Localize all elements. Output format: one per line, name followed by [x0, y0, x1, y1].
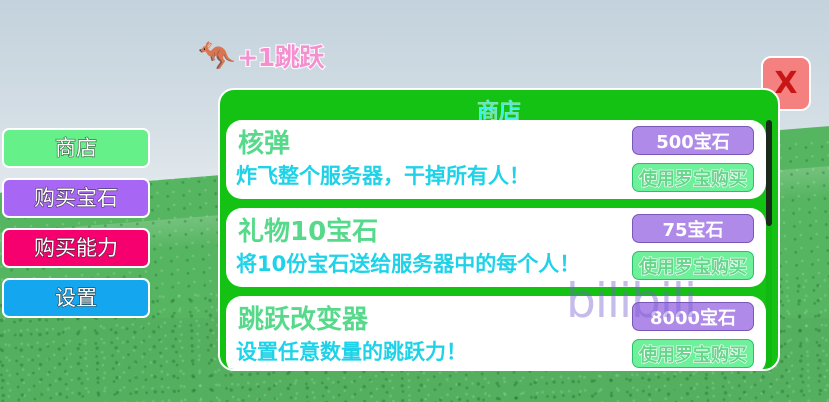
floating-label-jump: 🦘 +1跳跃: [198, 42, 324, 72]
sidebar-item-settings[interactable]: 设置: [2, 278, 150, 318]
shop-item-price-button[interactable]: 75宝石: [632, 214, 754, 243]
floating-label-jump-text: +1跳跃: [237, 45, 323, 70]
shop-item-price-button[interactable]: 8000宝石: [632, 302, 754, 331]
shop-item: 跳跃改变器设置任意数量的跳跃力！8000宝石使用罗宝购买: [226, 296, 766, 370]
shop-item-title: 跳跃改变器: [238, 299, 368, 336]
shop-item-description: 炸飞整个服务器，干掉所有人！: [236, 160, 530, 190]
shop-item-list[interactable]: 核弹炸飞整个服务器，干掉所有人！500宝石使用罗宝购买礼物10宝石将10份宝石送…: [226, 120, 768, 370]
shop-scrollbar-thumb[interactable]: [766, 120, 772, 226]
shop-scrollbar[interactable]: [766, 120, 772, 368]
shop-panel: 商店 核弹炸飞整个服务器，干掉所有人！500宝石使用罗宝购买礼物10宝石将10份…: [218, 88, 780, 371]
shop-item-buy-button[interactable]: 使用罗宝购买: [632, 163, 754, 192]
sidebar-item-buy-gems[interactable]: 购买宝石: [2, 178, 150, 218]
shop-item-buy-button[interactable]: 使用罗宝购买: [632, 339, 754, 368]
sidebar-item-buy-powers[interactable]: 购买能力: [2, 228, 150, 268]
shop-item-description: 设置任意数量的跳跃力！: [236, 336, 467, 366]
shop-item-title: 礼物10宝石: [238, 211, 378, 248]
sidebar-menu: 商店购买宝石购买能力设置: [2, 128, 152, 328]
sidebar-item-shop[interactable]: 商店: [2, 128, 150, 168]
shop-item: 礼物10宝石将10份宝石送给服务器中的每个人！75宝石使用罗宝购买: [226, 208, 766, 287]
shop-item-description: 将10份宝石送给服务器中的每个人！: [236, 248, 580, 278]
shop-item-buy-button[interactable]: 使用罗宝购买: [632, 251, 754, 280]
shop-item: 核弹炸飞整个服务器，干掉所有人！500宝石使用罗宝购买: [226, 120, 766, 199]
kangaroo-icon: 🦘: [198, 42, 235, 72]
shop-item-title: 核弹: [238, 123, 290, 160]
shop-item-price-button[interactable]: 500宝石: [632, 126, 754, 155]
